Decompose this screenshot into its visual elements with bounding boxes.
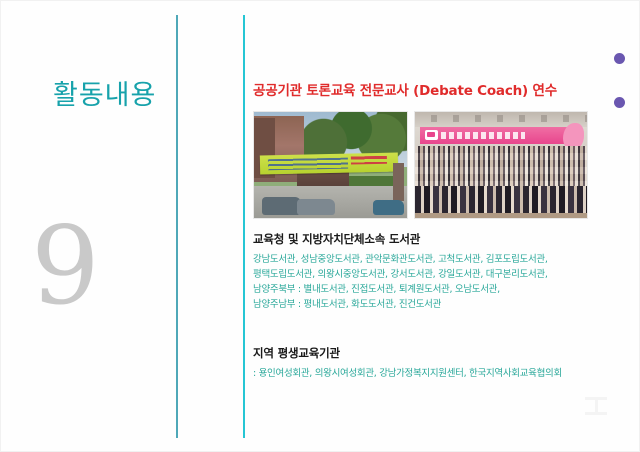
vertical-divider-right — [243, 15, 245, 438]
watermark-icon — [585, 397, 607, 415]
content-block-libraries: 교육청 및 지방자치단체소속 도서관 강남도서관, 성남중앙도서관, 관악문화관… — [253, 231, 548, 312]
block-line: : 용인여성회관, 의왕시여성회관, 강남가정복지지원센터, 한국지역사회교육협… — [253, 366, 562, 381]
vertical-divider-left — [176, 15, 178, 438]
slide-canvas: 활동내용 9 공공기관 토론교육 전문교사 (Debate Coach) 연수 — [0, 0, 640, 452]
content-headline: 공공기관 토론교육 전문교사 (Debate Coach) 연수 — [253, 79, 557, 99]
decor-dot-icon — [614, 53, 625, 64]
content-block-lifelong: 지역 평생교육기관 : 용인여성회관, 의왕시여성회관, 강남가정복지지원센터,… — [253, 345, 562, 381]
page-number: 9 — [31, 213, 100, 321]
decor-dot-icon — [614, 97, 625, 108]
block-line: 남양주남부 : 평내도서관, 화도도서관, 진건도서관 — [253, 297, 548, 312]
photo-gallery — [253, 111, 588, 219]
block-heading: 교육청 및 지방자치단체소속 도서관 — [253, 231, 548, 247]
block-line: 평택도립도서관, 의왕시중앙도서관, 강서도서관, 강일도서관, 대구본리도서관… — [253, 267, 548, 282]
photo-building-banner — [253, 111, 408, 219]
photo-group-ceremony — [414, 111, 588, 219]
block-heading: 지역 평생교육기관 — [253, 345, 562, 361]
block-line: 남양주북부 : 별내도서관, 진접도서관, 퇴계원도서관, 오남도서관, — [253, 282, 548, 297]
block-line: 강남도서관, 성남중앙도서관, 관악문화관도서관, 고척도서관, 김포도립도서관… — [253, 252, 548, 267]
page-title: 활동내용 — [53, 73, 156, 112]
